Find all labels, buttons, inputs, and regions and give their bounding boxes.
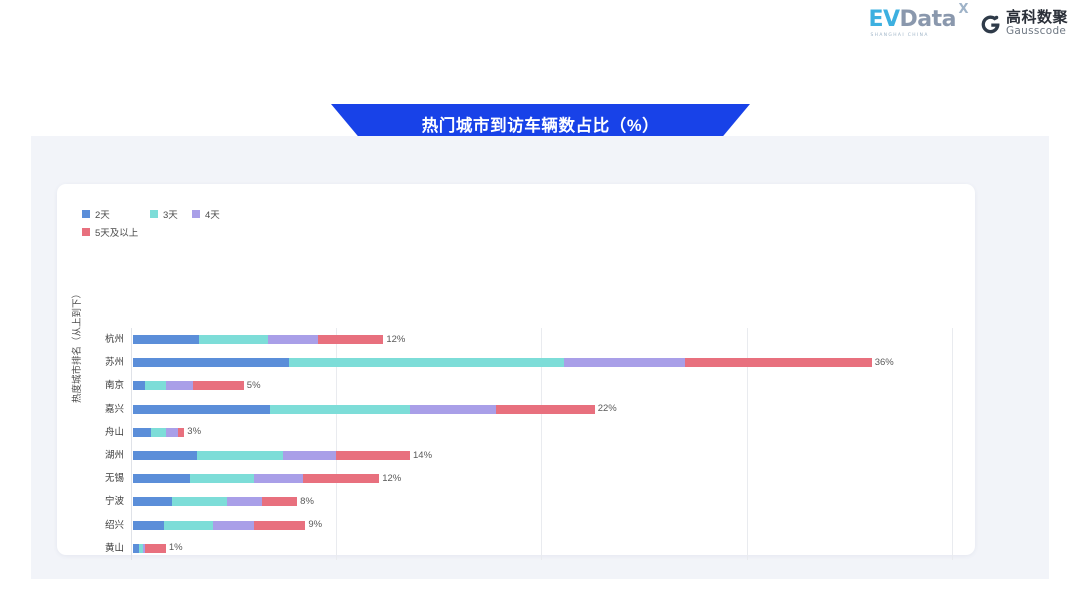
chart-card: 2天3天4天5天及以上 热度城市排名（从上到下） 杭州12%苏州36%南京5%嘉… — [57, 184, 975, 555]
gausscode-c-mark-icon — [980, 13, 1001, 34]
bar-segment-3天[interactable] — [145, 381, 166, 390]
bar-segment-4天[interactable] — [410, 405, 496, 414]
stacked-bar[interactable]: 9% — [133, 521, 305, 530]
bar-segment-2天[interactable] — [133, 428, 151, 437]
chart-row: 湖州14% — [57, 444, 975, 467]
bar-value-label-无锡: 12% — [379, 474, 401, 484]
gausscode-logo: 高科数聚 Gausscode — [980, 10, 1068, 37]
chart-row: 苏州36% — [57, 351, 975, 374]
bar-segment-4天[interactable] — [166, 428, 178, 437]
bar-segment-3天[interactable] — [151, 428, 165, 437]
stacked-bar[interactable]: 1% — [133, 544, 166, 553]
bar-segment-5天及以上[interactable] — [262, 497, 297, 506]
evdata-prefix: EV — [868, 7, 899, 32]
stacked-bar[interactable]: 5% — [133, 381, 244, 390]
chart-row: 绍兴9% — [57, 514, 975, 537]
bar-segment-5天及以上[interactable] — [303, 474, 379, 483]
stacked-bar[interactable]: 3% — [133, 428, 184, 437]
y-axis-label-南京: 南京 — [57, 374, 129, 397]
bar-segment-2天[interactable] — [133, 521, 164, 530]
bar-segment-3天[interactable] — [172, 497, 227, 506]
y-axis-label-黄山: 黄山 — [57, 537, 129, 560]
page-title: 热门城市到访车辆数占比（%） — [422, 112, 660, 136]
stacked-bar[interactable]: 22% — [133, 405, 595, 414]
bar-segment-5天及以上[interactable] — [496, 405, 594, 414]
stacked-bar[interactable]: 12% — [133, 474, 379, 483]
stacked-bar[interactable]: 14% — [133, 451, 410, 460]
gausscode-wordmark: 高科数聚 Gausscode — [1006, 10, 1068, 37]
evdata-logo: EVData X SHANGHAI CHINA — [868, 9, 966, 38]
bar-value-label-杭州: 12% — [383, 335, 405, 345]
bar-segment-3天[interactable] — [270, 405, 410, 414]
chart-row: 南京5% — [57, 374, 975, 397]
bar-segment-4天[interactable] — [268, 335, 317, 344]
chart-row: 黄山1% — [57, 537, 975, 560]
page-header: EVData X SHANGHAI CHINA 高科数聚 Gausscode — [0, 0, 1080, 55]
bar-value-label-苏州: 36% — [872, 358, 894, 368]
logo-group: EVData X SHANGHAI CHINA 高科数聚 Gausscode — [868, 9, 1068, 38]
evdata-wordmark: EVData X — [868, 9, 966, 31]
bar-segment-2天[interactable] — [133, 451, 197, 460]
bar-segment-2天[interactable] — [133, 474, 190, 483]
bar-segment-4天[interactable] — [283, 451, 336, 460]
bar-segment-2天[interactable] — [133, 497, 172, 506]
chart-row: 舟山3% — [57, 421, 975, 444]
bar-value-label-湖州: 14% — [410, 451, 432, 461]
bar-segment-4天[interactable] — [166, 381, 193, 390]
y-axis-label-宁波: 宁波 — [57, 490, 129, 513]
bar-segment-2天[interactable] — [133, 405, 270, 414]
bar-segment-3天[interactable] — [164, 521, 213, 530]
evdata-suffix: Data — [900, 7, 956, 32]
y-axis-label-嘉兴: 嘉兴 — [57, 398, 129, 421]
evdata-superscript-x: X — [958, 3, 968, 16]
bar-value-label-宁波: 8% — [297, 497, 314, 507]
bar-segment-2天[interactable] — [133, 381, 145, 390]
chart-row: 嘉兴22% — [57, 398, 975, 421]
y-axis-label-绍兴: 绍兴 — [57, 514, 129, 537]
stacked-bar[interactable]: 8% — [133, 497, 297, 506]
chart-row: 宁波8% — [57, 490, 975, 513]
bar-value-label-南京: 5% — [244, 381, 261, 391]
chart-plot-region: 热度城市排名（从上到下） 杭州12%苏州36%南京5%嘉兴22%舟山3%湖州14… — [57, 184, 975, 555]
bar-segment-5天及以上[interactable] — [254, 521, 305, 530]
bar-segment-5天及以上[interactable] — [685, 358, 872, 367]
chart-row: 杭州12% — [57, 328, 975, 351]
bar-value-label-舟山: 3% — [184, 427, 201, 437]
bar-value-label-绍兴: 9% — [305, 520, 322, 530]
chart-row: 无锡12% — [57, 467, 975, 490]
gausscode-name-cn: 高科数聚 — [1006, 10, 1068, 25]
bar-value-label-嘉兴: 22% — [595, 404, 617, 414]
chart-bar-rows: 杭州12%苏州36%南京5%嘉兴22%舟山3%湖州14%无锡12%宁波8%绍兴9… — [57, 184, 975, 555]
bar-segment-5天及以上[interactable] — [318, 335, 384, 344]
bar-segment-5天及以上[interactable] — [336, 451, 410, 460]
bar-segment-4天[interactable] — [227, 497, 262, 506]
evdata-subtitle: SHANGHAI CHINA — [870, 33, 928, 38]
stacked-bar[interactable]: 36% — [133, 358, 872, 367]
y-axis-label-湖州: 湖州 — [57, 444, 129, 467]
bar-segment-3天[interactable] — [190, 474, 254, 483]
bar-segment-3天[interactable] — [199, 335, 269, 344]
bar-value-label-黄山: 1% — [166, 543, 183, 553]
bar-segment-5天及以上[interactable] — [193, 381, 244, 390]
bar-segment-3天[interactable] — [197, 451, 283, 460]
y-axis-label-舟山: 舟山 — [57, 421, 129, 444]
bar-segment-3天[interactable] — [289, 358, 564, 367]
gausscode-name-en: Gausscode — [1006, 26, 1068, 37]
y-axis-label-杭州: 杭州 — [57, 328, 129, 351]
y-axis-label-苏州: 苏州 — [57, 351, 129, 374]
bar-segment-4天[interactable] — [564, 358, 685, 367]
bar-segment-5天及以上[interactable] — [145, 544, 166, 553]
bar-segment-2天[interactable] — [133, 335, 199, 344]
bar-segment-2天[interactable] — [133, 358, 289, 367]
bar-segment-4天[interactable] — [254, 474, 303, 483]
bar-segment-4天[interactable] — [213, 521, 254, 530]
stacked-bar[interactable]: 12% — [133, 335, 383, 344]
y-axis-label-无锡: 无锡 — [57, 467, 129, 490]
